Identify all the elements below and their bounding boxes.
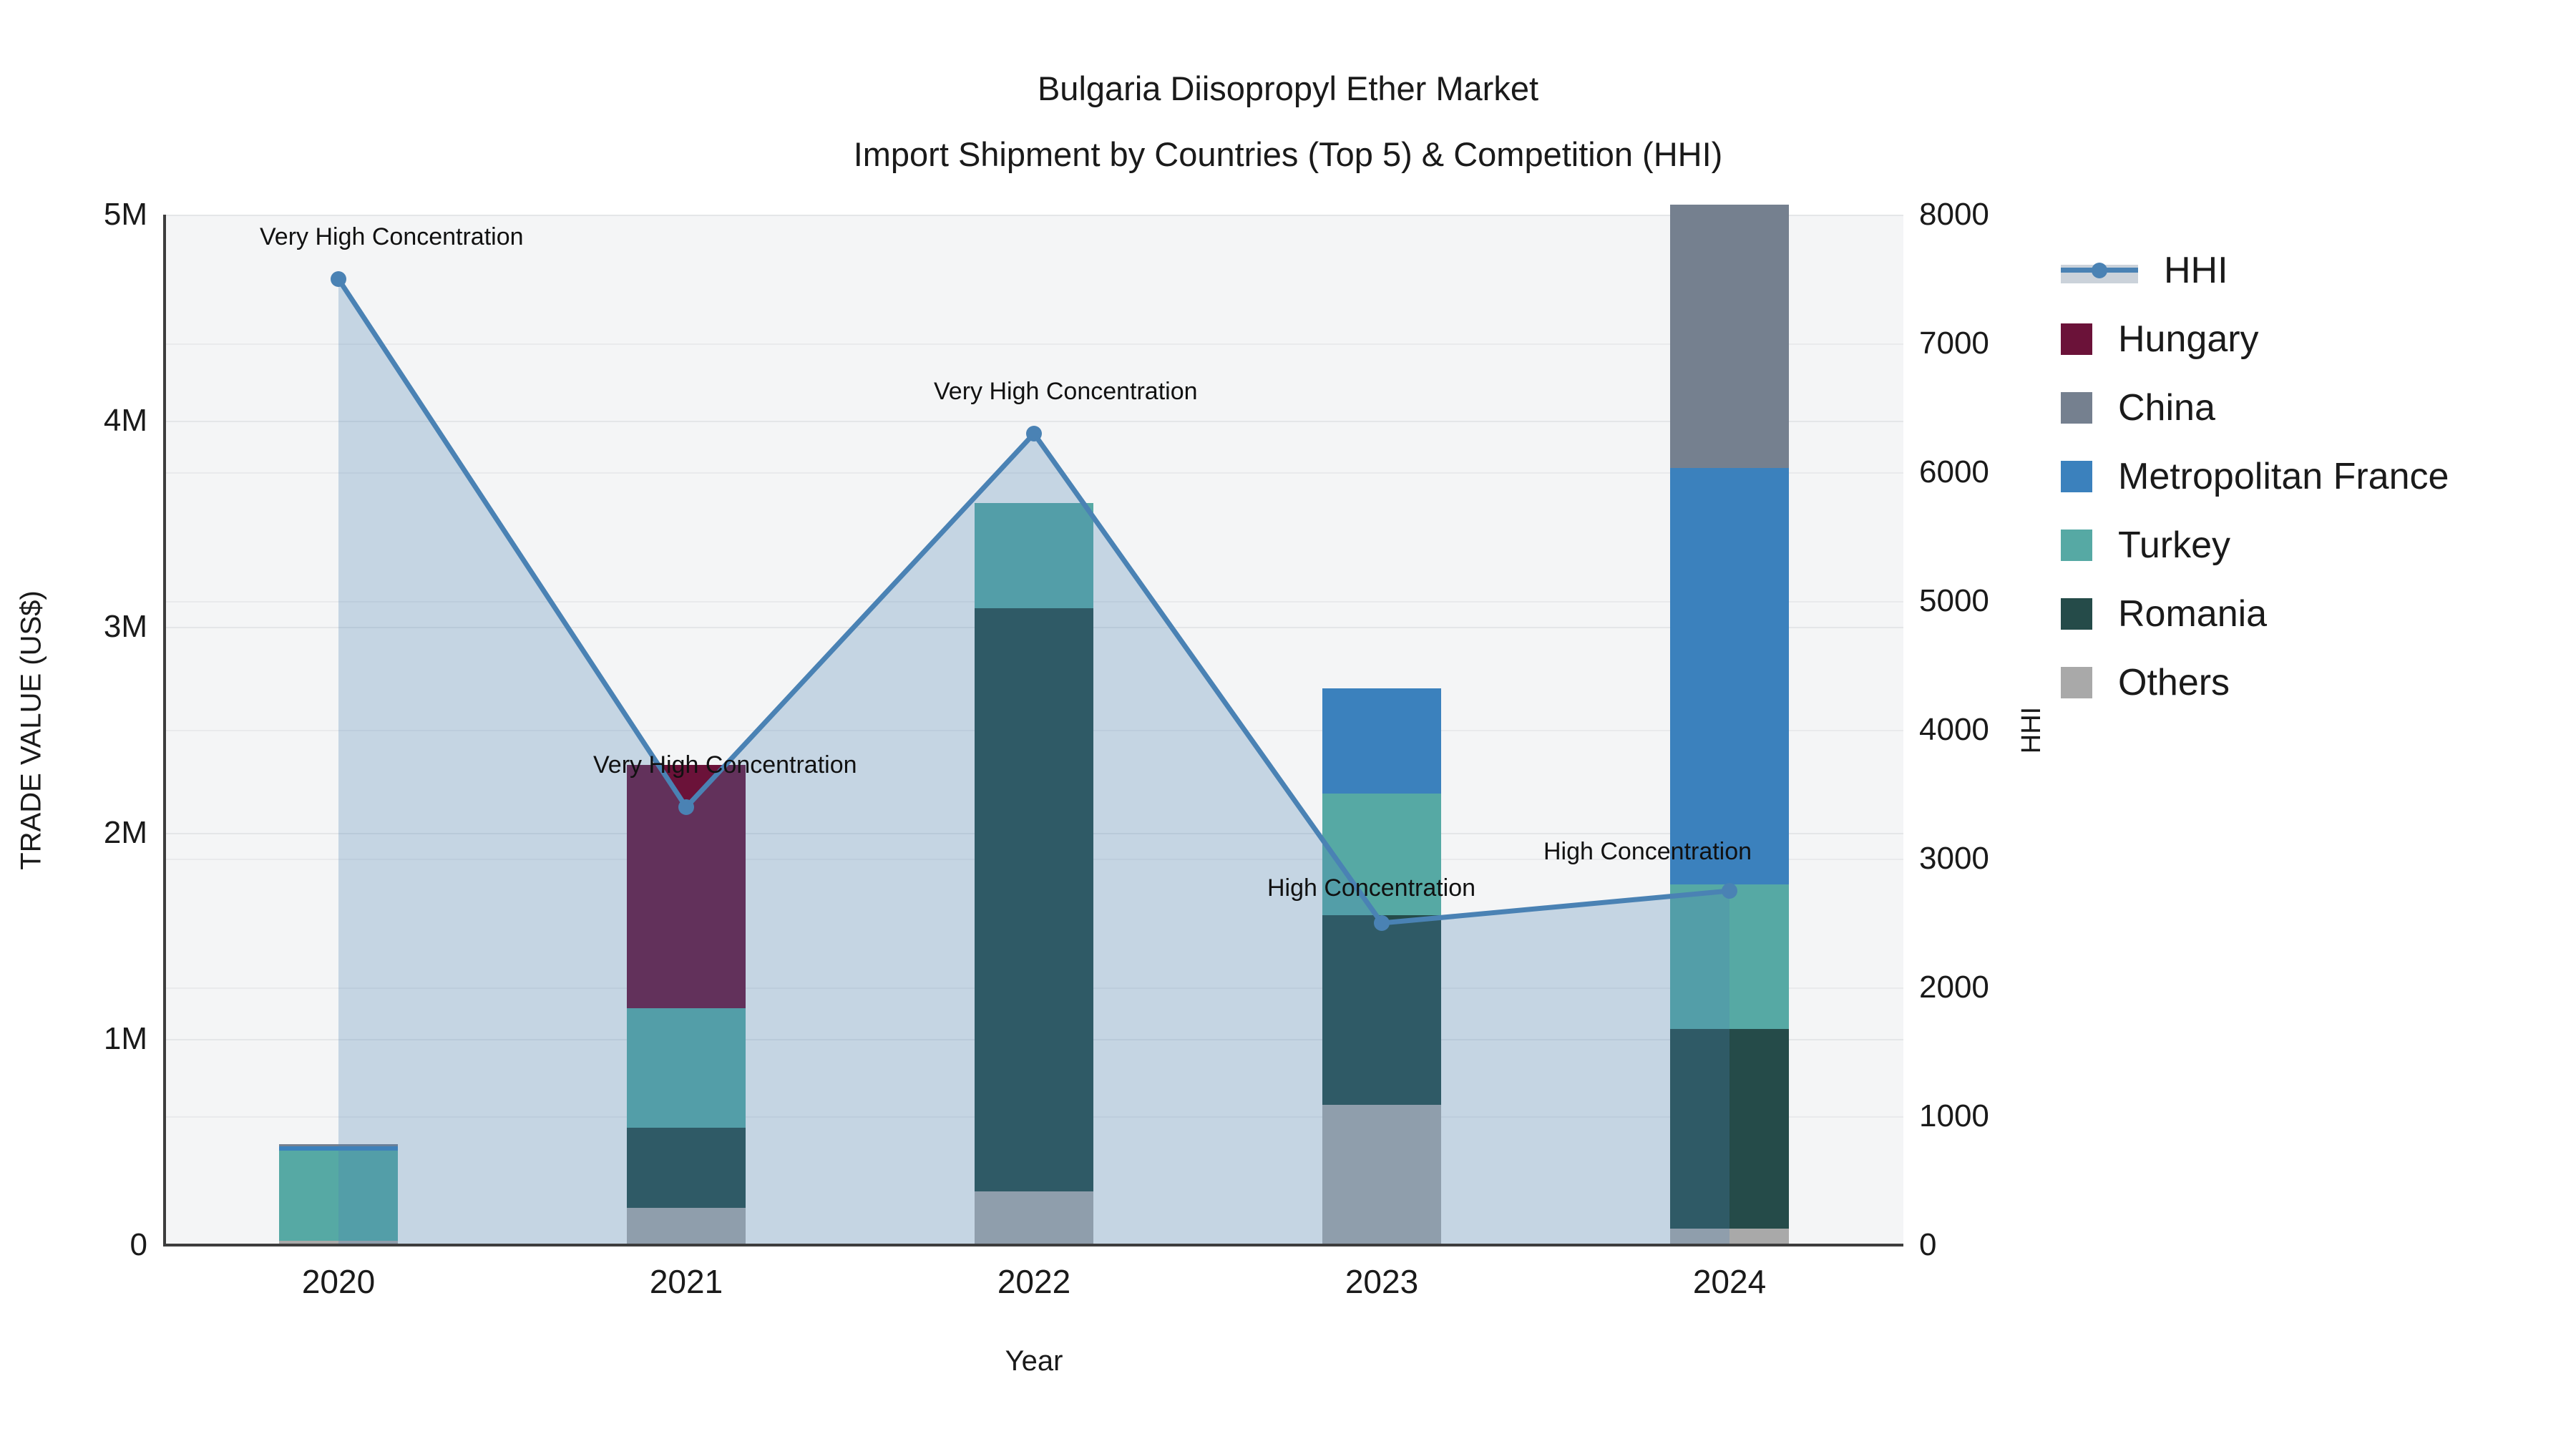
annotation-2021: Very High Concentration xyxy=(593,751,857,779)
legend-item-hungary[interactable]: Hungary xyxy=(2061,305,2562,374)
plot-area: Very High ConcentrationVery High Concent… xyxy=(165,215,1903,1245)
hhi-marker-2021[interactable] xyxy=(678,799,694,815)
chart-legend: HHIHungaryChinaMetropolitan FranceTurkey… xyxy=(2061,236,2562,717)
legend-item-label: Others xyxy=(2118,661,2230,704)
legend-item-romania[interactable]: Romania xyxy=(2061,580,2562,648)
chart-title-line-1: Bulgaria Diisopropyl Ether Market xyxy=(0,56,2576,122)
y-tick-right: 6000 xyxy=(1919,454,1989,490)
x-tick-2022: 2022 xyxy=(997,1262,1070,1301)
y-tick-left: 1M xyxy=(104,1021,147,1057)
y-axis-left-label-text: TRADE VALUE (US$) xyxy=(16,590,48,869)
legend-item-metropolitan-france[interactable]: Metropolitan France xyxy=(2061,442,2562,511)
y-tick-left: 5M xyxy=(104,197,147,233)
chart-figure: Bulgaria Diisopropyl Ether Market Import… xyxy=(0,0,2576,1449)
y-tick-right: 1000 xyxy=(1919,1098,1989,1134)
y-axis-left-label: TRADE VALUE (US$) xyxy=(10,215,53,1245)
y-tick-right: 8000 xyxy=(1919,197,1989,233)
x-axis: 20202021202220232024 xyxy=(165,1245,1903,1324)
x-tick-2023: 2023 xyxy=(1345,1262,1418,1301)
hhi-marker-2020[interactable] xyxy=(331,271,346,287)
hhi-area-and-line xyxy=(165,215,1903,1245)
legend-line-swatch xyxy=(2061,255,2138,286)
legend-color-swatch xyxy=(2061,530,2092,561)
legend-color-swatch xyxy=(2061,461,2092,492)
legend-item-label: Metropolitan France xyxy=(2118,455,2449,498)
y-tick-right: 5000 xyxy=(1919,583,1989,619)
y-tick-left: 0 xyxy=(130,1227,147,1263)
legend-item-label: China xyxy=(2118,386,2215,429)
annotation-2020: Very High Concentration xyxy=(260,223,524,251)
legend-color-swatch xyxy=(2061,323,2092,355)
legend-color-swatch xyxy=(2061,598,2092,630)
legend-item-others[interactable]: Others xyxy=(2061,648,2562,717)
x-axis-label: Year xyxy=(165,1345,1903,1377)
x-tick-2021: 2021 xyxy=(650,1262,723,1301)
legend-item-china[interactable]: China xyxy=(2061,374,2562,442)
legend-item-label: Hungary xyxy=(2118,318,2259,361)
x-tick-2020: 2020 xyxy=(302,1262,375,1301)
legend-item-turkey[interactable]: Turkey xyxy=(2061,511,2562,580)
hhi-marker-2024[interactable] xyxy=(1722,883,1737,899)
annotation-2022: Very High Concentration xyxy=(934,378,1198,406)
hhi-area-fill xyxy=(338,279,1729,1245)
x-tick-2024: 2024 xyxy=(1693,1262,1766,1301)
legend-item-hhi[interactable]: HHI xyxy=(2061,236,2562,305)
chart-title-line-2: Import Shipment by Countries (Top 5) & C… xyxy=(0,122,2576,187)
legend-item-label: Romania xyxy=(2118,592,2267,635)
legend-color-swatch xyxy=(2061,667,2092,698)
hhi-marker-2023[interactable] xyxy=(1374,915,1390,931)
y-tick-right: 2000 xyxy=(1919,970,1989,1005)
y-tick-right: 0 xyxy=(1919,1227,1936,1263)
y-tick-right: 3000 xyxy=(1919,841,1989,877)
legend-item-label: HHI xyxy=(2164,249,2228,292)
y-axis-right-label-text: HHI xyxy=(2017,706,2048,753)
y-tick-right: 4000 xyxy=(1919,712,1989,748)
y-tick-left: 4M xyxy=(104,403,147,439)
annotation-2023: High Concentration xyxy=(1267,874,1475,902)
chart-title: Bulgaria Diisopropyl Ether Market Import… xyxy=(0,56,2576,187)
legend-item-label: Turkey xyxy=(2118,524,2230,567)
y-tick-left: 3M xyxy=(104,609,147,645)
y-tick-right: 7000 xyxy=(1919,326,1989,361)
hhi-marker-2022[interactable] xyxy=(1026,426,1042,441)
y-tick-left: 2M xyxy=(104,815,147,851)
y-axis-right-label: HHI xyxy=(2011,215,2054,1245)
annotation-2024: High Concentration xyxy=(1543,838,1752,866)
legend-color-swatch xyxy=(2061,392,2092,424)
